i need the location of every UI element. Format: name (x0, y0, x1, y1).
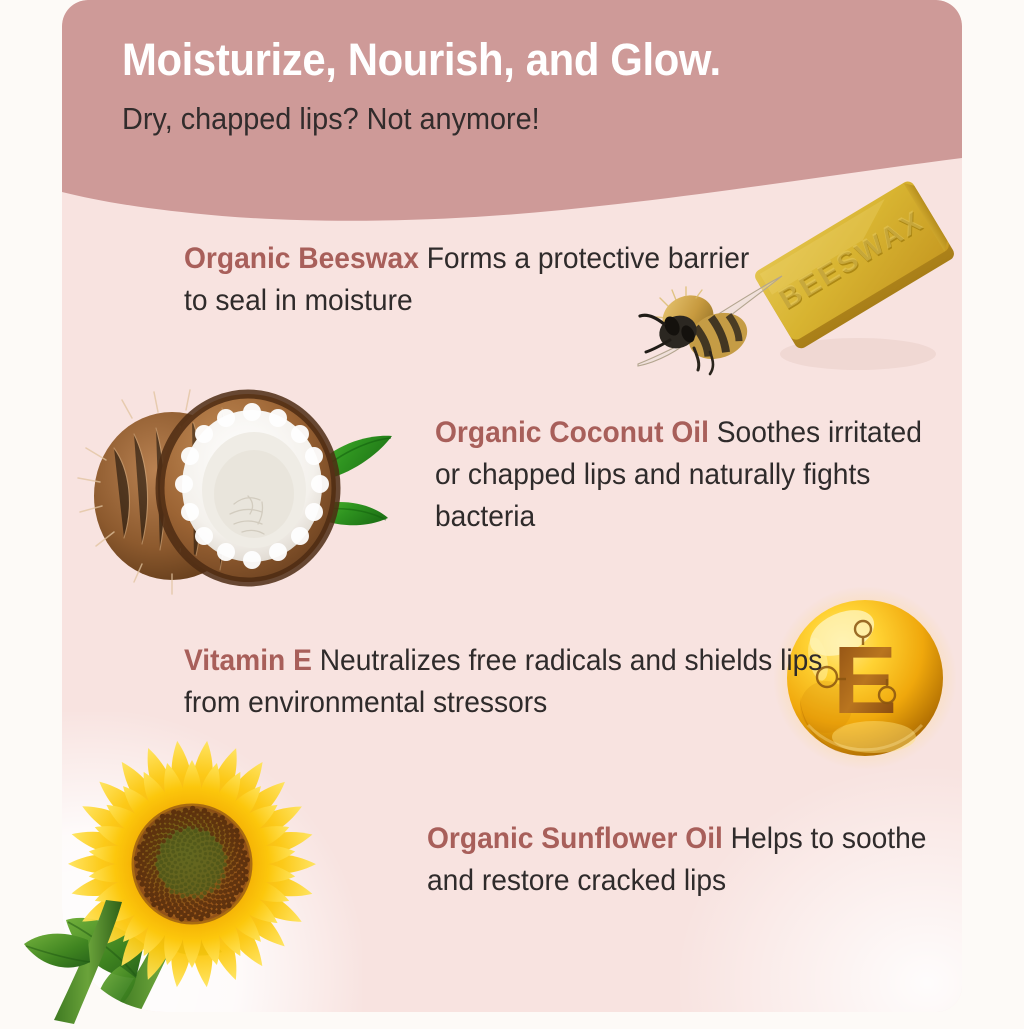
sunflower-seed (197, 874, 200, 877)
sunflower-seed (182, 858, 185, 861)
sunflower-seed (143, 834, 148, 839)
sunflower-seed (195, 834, 199, 838)
sunflower-seed (230, 897, 235, 902)
sunflower-seed (235, 833, 240, 838)
sunflower-seed (210, 832, 214, 836)
sunflower-seed (225, 872, 229, 876)
sunflower-seed (225, 829, 230, 834)
sunflower-seed (220, 858, 224, 862)
sunflower-seed (226, 878, 231, 883)
sunflower-seed (176, 810, 181, 815)
sunflower-seed (183, 866, 186, 869)
sunflower-seed (242, 850, 247, 855)
sunflower-seed (174, 870, 177, 873)
sunflower-seed (245, 857, 250, 862)
sunflower-seed (217, 875, 221, 879)
sunflower-seed (235, 838, 240, 843)
sunflower-seed (206, 873, 210, 877)
sunflower-seed (159, 834, 164, 839)
sunflower-seed (171, 865, 175, 869)
sunflower-seed (153, 858, 157, 862)
sunflower-seed (152, 852, 157, 857)
sunflower-seed (210, 863, 214, 867)
sunflower-seed (151, 902, 156, 907)
sunflower-seed (210, 837, 214, 841)
sunflower-seed (165, 897, 170, 902)
sunflower-seed (175, 885, 179, 889)
sunflower-seed (201, 843, 205, 847)
sunflower-seed (161, 899, 166, 904)
sunflower-seed (194, 866, 197, 869)
sunflower-seed (171, 898, 176, 903)
sunflower-seed (203, 869, 206, 872)
sunflower-seed (207, 904, 212, 909)
sunflower-seed (175, 815, 180, 820)
sunflower-seed (183, 808, 188, 813)
sunflower-seed (199, 850, 202, 853)
sunflower-seed (166, 844, 170, 848)
sunflower-seed (171, 841, 175, 845)
sunflower-seed (165, 873, 169, 877)
sunflower-seed (216, 849, 220, 853)
sunflower-seed (212, 813, 217, 818)
sunflower-seed (198, 865, 201, 868)
sunflower-seed (184, 882, 188, 886)
ingredient-name-coconut: Organic Coconut Oil (435, 416, 709, 449)
sunflower-seed (170, 894, 175, 899)
sunflower-seed (203, 902, 208, 907)
sunflower-seed (211, 884, 215, 888)
sunflower-seed (182, 898, 186, 902)
sunflower-seed (207, 898, 212, 903)
sunflower-seed (205, 841, 209, 845)
ingredient-name-vitamin-e: Vitamin E (184, 644, 312, 677)
sunflower-seed (206, 908, 211, 913)
ingredient-text-sunflower: Organic Sunflower Oil Helps to soothe an… (427, 818, 933, 902)
sunflower-seed (215, 833, 220, 838)
sunflower-seed (144, 868, 149, 873)
sunflower-seed (216, 861, 220, 865)
sunflower-seed (196, 891, 200, 895)
sunflower-seed (159, 890, 164, 895)
sunflower-seed (181, 843, 185, 847)
sunflower-seed (212, 847, 216, 851)
sunflower-seed (190, 806, 195, 811)
sunflower-seed (176, 866, 179, 869)
sunflower-seed (225, 894, 230, 899)
sunflower-seed (171, 809, 176, 814)
sunflower-seed (190, 846, 193, 849)
sunflower-seed (181, 847, 184, 850)
sunflower-seed (165, 867, 169, 871)
sunflower-seed (167, 862, 171, 866)
sunflower-seed (220, 869, 224, 873)
sunflower-seed (210, 871, 214, 875)
sunflower-seed (227, 888, 232, 893)
sunflower-seed (236, 853, 241, 858)
sunflower-seed (155, 819, 160, 824)
sunflower-seed (238, 887, 243, 892)
sunflower-seed (184, 819, 189, 824)
sunflower-seed (194, 914, 199, 919)
sunflower-seed (229, 856, 234, 861)
sunflower-seed (218, 890, 223, 895)
page-title: Moisturize, Nourish, and Glow. (122, 36, 866, 84)
sunflower-seed (134, 856, 139, 861)
sunflower-seed (193, 878, 196, 881)
sunflower-seed (189, 852, 192, 855)
sunflower-seed (193, 850, 196, 853)
sunflower-seed (219, 826, 224, 831)
sunflower-seed (160, 814, 165, 819)
sunflower-seed (188, 839, 192, 843)
sunflower-seed (170, 857, 174, 861)
sunflower-seed (202, 808, 207, 813)
sunflower-seed (233, 848, 238, 853)
sunflower-seed (228, 823, 233, 828)
sunflower-seed (156, 901, 161, 906)
sunflower-seed (167, 853, 171, 857)
sunflower-seed (180, 870, 183, 873)
sunflower-seed (187, 879, 190, 882)
sunflower-seed (212, 904, 217, 909)
sunflower-seed (214, 828, 219, 833)
sunflower-seed (226, 851, 231, 856)
sunflower-seed (217, 880, 221, 884)
sunflower-seed (206, 861, 209, 864)
sunflower-seed (210, 889, 214, 893)
sunflower-seed (174, 826, 179, 831)
sunflower-seed (176, 848, 180, 852)
sunflower-seed (154, 892, 159, 897)
sunflower-seed (203, 864, 206, 867)
sunflower-seed (199, 900, 204, 905)
sunflower-seed (193, 842, 197, 846)
sunflower-seed (243, 869, 248, 874)
sunflower-seed (202, 879, 206, 883)
sunflower-seed (199, 854, 202, 857)
sunflower-seed (144, 892, 149, 897)
sunflower-seed (171, 830, 175, 834)
sunflower-seed (175, 894, 179, 898)
sunflower-seed (185, 871, 188, 874)
sunflower-seed (179, 834, 183, 838)
sunflower-seed (200, 860, 203, 863)
sunflower-seed (177, 839, 181, 843)
ingredient-name-beeswax: Organic Beeswax (184, 242, 419, 275)
sunflower-seed (197, 845, 200, 848)
sunflower-seed (193, 829, 197, 833)
sunflower-seed (168, 835, 172, 839)
sunflower-seed (212, 858, 216, 862)
sunflower-seed (155, 870, 159, 874)
sunflower-seed (146, 827, 151, 832)
sunflower-seed (223, 855, 227, 859)
sunflower-seed (207, 878, 211, 882)
sunflower-seed (135, 863, 140, 868)
sunflower-seed (161, 881, 165, 885)
sunflower-seed (152, 841, 157, 846)
sunflower-seed (151, 878, 156, 883)
sunflower-seed (160, 819, 165, 824)
sunflower-seed (170, 869, 174, 873)
sunflower-seed (186, 828, 190, 832)
sunflower-seed (179, 874, 182, 877)
sunflower-seed (209, 827, 214, 832)
sunflower-seed (162, 864, 166, 868)
sunflower-seed (228, 847, 233, 852)
sunflower-seed (205, 831, 209, 835)
sunflower-seed (156, 878, 161, 883)
sunflower-seed (205, 887, 209, 891)
sunflower-seed (218, 845, 222, 849)
sunflower-seed (197, 879, 200, 882)
sunflower-seed (219, 815, 224, 820)
sunflower-seed (172, 836, 176, 840)
sunflower-seed (170, 819, 175, 824)
sunflower-seed (158, 905, 163, 910)
sunflower-seed (209, 841, 213, 845)
sunflower-seed (161, 839, 165, 843)
sunflower-seed (212, 899, 217, 904)
sunflower-seed (184, 888, 188, 892)
sunflower-seed (164, 858, 168, 862)
sunflower-seed (225, 834, 230, 839)
sunflower-seed (193, 871, 196, 874)
page-subtitle: Dry, chapped lips? Not anymore! (122, 102, 866, 136)
sunflower-seed (188, 897, 192, 901)
sunflower-seed (170, 875, 174, 879)
sunflower-seed (171, 845, 175, 849)
sunflower-seed (212, 879, 216, 883)
header-text-group: Moisturize, Nourish, and Glow. Dry, chap… (122, 36, 922, 136)
sunflower-seed (171, 850, 175, 854)
sunflower-seed (214, 866, 218, 870)
sunflower-seed (215, 838, 219, 842)
sunflower-seed (191, 859, 194, 862)
sunflower-seed (234, 843, 239, 848)
sunflower-seed (187, 856, 190, 859)
sunflower-seed (213, 824, 218, 829)
sunflower-seed (152, 847, 157, 852)
sunflower-seed (226, 903, 231, 908)
sunflower-seed (201, 884, 205, 888)
sunflower-seed (226, 859, 230, 863)
sunflower-seed (229, 843, 234, 848)
sunflower-seed (177, 899, 182, 904)
sunflower-seed (203, 857, 206, 860)
sunflower-seed (203, 891, 207, 895)
sunflower-seed (200, 832, 204, 836)
sunflower-seed (174, 861, 177, 864)
sunflower-seed (183, 853, 186, 856)
sunflower-seed (239, 844, 244, 849)
sunflower-seed (185, 875, 188, 878)
sunflower-seed (211, 894, 216, 899)
sunflower-seed (216, 900, 221, 905)
sunflower-seed (243, 876, 248, 881)
sunflower-seed (181, 879, 185, 883)
sunflower-seed (182, 824, 187, 829)
sunflower-seed (152, 830, 157, 835)
sunflower-seed (207, 893, 211, 897)
sunflower-seed (192, 836, 196, 840)
sunflower-seed (216, 895, 221, 900)
sunflower-seed (163, 834, 168, 839)
sunflower-seed (185, 849, 188, 852)
sunflower-seed (224, 824, 229, 829)
sunflower-seed (176, 880, 180, 884)
sunflower-seed (220, 840, 224, 844)
sunflower-seed (197, 839, 201, 843)
sunflower-seed (189, 831, 193, 835)
sunflower-seed (178, 828, 182, 832)
sunflower-seed (214, 842, 218, 846)
sunflower-seed (203, 847, 207, 851)
sunflower-seed (195, 898, 199, 902)
sunflower-seed (199, 888, 203, 892)
sunflower-seed (230, 838, 235, 843)
sunflower-seed (168, 912, 173, 917)
sunflower-seed (179, 889, 183, 893)
sunflower-seed (170, 824, 175, 829)
sunflower-seed (211, 909, 216, 914)
sunflower-seed (186, 844, 190, 848)
infographic-card: Moisturize, Nourish, and Glow. Dry, chap… (62, 0, 962, 1012)
sunflower-seed (161, 844, 165, 848)
sunflower-seed (165, 818, 170, 823)
sunflower-seed (207, 867, 210, 870)
sunflower-seed (165, 893, 170, 898)
sunflower-seed (229, 828, 234, 833)
sunflower-seed (170, 890, 174, 894)
sunflower-seed (198, 828, 202, 832)
sunflower-seed (221, 899, 226, 904)
sunflower-seed (221, 874, 225, 878)
sunflower-seed (220, 852, 224, 856)
sunflower-seed (205, 836, 209, 840)
sunflower-seed (154, 887, 159, 892)
sunflower-seed (156, 850, 160, 854)
sunflower-seed (186, 834, 190, 838)
sunflower-seed (144, 882, 149, 887)
sunflower-seed (223, 889, 228, 894)
sunflower-seed (136, 875, 141, 880)
sunflower-seed (191, 882, 195, 886)
sunflower-seed (174, 820, 179, 825)
sunflower-seed (166, 839, 170, 843)
sunflower-seed (165, 824, 170, 829)
sunflower-seed (203, 827, 208, 832)
sunflower-seed (152, 866, 157, 871)
sunflower-seed (157, 829, 162, 834)
sunflower-seed (222, 847, 226, 851)
sunflower-seed (231, 852, 236, 857)
sunflower-seed (224, 867, 228, 871)
sunflower-seed (152, 874, 157, 879)
sunflower-seed (155, 824, 160, 829)
sunflower-seed (157, 839, 162, 844)
sunflower-seed (209, 852, 213, 856)
sunflower-seed (186, 916, 191, 921)
sunflower-seed (162, 877, 166, 881)
sunflower-seed (190, 874, 193, 877)
sunflower-seed (194, 855, 197, 858)
sunflower-seed (226, 898, 231, 903)
sunflower-seed (223, 863, 227, 867)
sunflower-seed (137, 844, 142, 849)
sunflower-seed (155, 896, 160, 901)
sunflower-seed (201, 837, 205, 841)
sunflower-seed (196, 884, 200, 888)
sunflower-seed (137, 870, 142, 875)
sunflower-seed (147, 873, 152, 878)
sunflower-seed (158, 874, 162, 878)
sunflower-seed (166, 849, 170, 853)
sunflower-seed (166, 829, 171, 834)
sunflower-seed (154, 835, 159, 840)
sunflower-seed (230, 833, 235, 838)
sunflower-seed (234, 828, 239, 833)
sunflower-seed (218, 865, 222, 869)
sunflower-seed (178, 822, 183, 827)
sunflower-seed (140, 881, 145, 886)
sunflower-seed (198, 916, 203, 921)
sunflower-seed (160, 823, 165, 828)
ingredient-text-vitamin-e: Vitamin E Neutralizes free radicals and … (184, 640, 833, 724)
sunflower-seed (179, 863, 182, 866)
sunflower-seed (201, 875, 204, 878)
sunflower-seed (183, 838, 187, 842)
sunflower-seed (220, 831, 225, 836)
sunflower-seed (204, 852, 207, 855)
sunflower-seed (220, 894, 225, 899)
sunflower-seed (207, 847, 211, 851)
sunflower-seed (161, 870, 165, 874)
sunflower-seed (149, 869, 154, 874)
sunflower-seed (239, 839, 244, 844)
sunflower-seed (179, 916, 184, 921)
sunflower-seed (170, 885, 174, 889)
sunflower-seed (182, 831, 186, 835)
sunflower-seed (175, 832, 179, 836)
sunflower-seed (216, 885, 220, 889)
sunflower-seed (205, 913, 210, 918)
sunflower-seed (189, 865, 192, 868)
sunflower-seed (212, 875, 216, 879)
sunflower-stem-overflow (10, 900, 150, 1024)
bee-icon (622, 262, 802, 382)
ingredient-name-sunflower: Organic Sunflower Oil (427, 822, 723, 855)
sunflower-seed (179, 817, 184, 822)
sunflower-seed (220, 884, 225, 889)
sunflower-seed (185, 893, 189, 897)
sunflower-seed (191, 863, 194, 866)
sunflower-seed (217, 855, 221, 859)
sunflower-seed (175, 890, 179, 894)
sunflower-seed (149, 883, 154, 888)
sunflower-seed (225, 883, 230, 888)
sunflower-seed (214, 889, 218, 893)
sunflower-seed (217, 904, 222, 909)
sunflower-seed (196, 859, 199, 862)
sunflower-seed (165, 884, 169, 888)
sunflower-seed (142, 872, 147, 877)
sunflower-seed (208, 857, 212, 861)
sunflower-seed (221, 904, 226, 909)
sunflower-seed (149, 887, 154, 892)
sunflower-seed (216, 870, 220, 874)
